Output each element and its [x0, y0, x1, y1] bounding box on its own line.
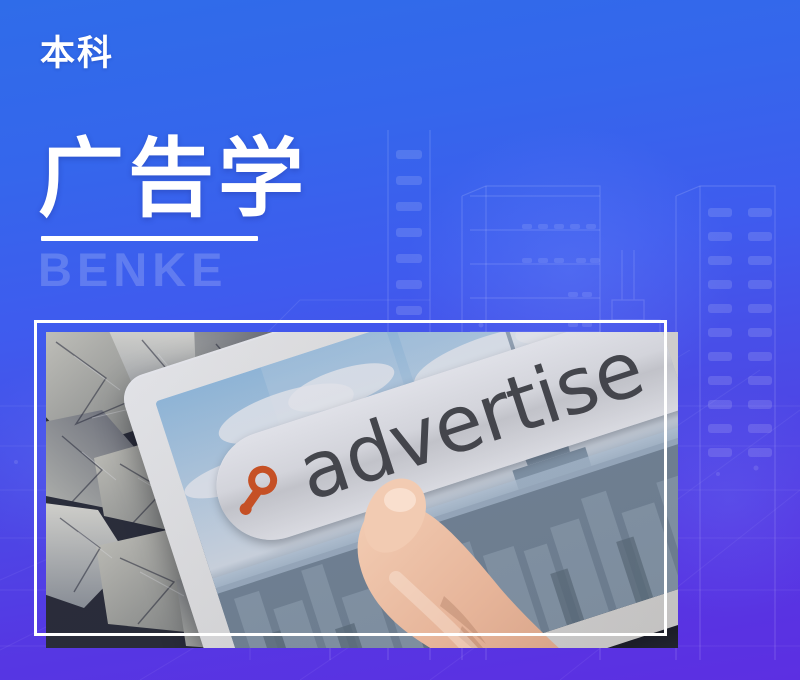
- promo-card: 本科 广告学 BENKE: [0, 0, 800, 680]
- subtitle-romanization: BENKE: [38, 246, 228, 293]
- pointing-hand: [276, 428, 576, 648]
- page-title: 广告学: [38, 136, 308, 222]
- title-underline: [41, 236, 258, 241]
- hero-photo: advertise: [46, 332, 678, 648]
- eyebrow-label: 本科: [40, 36, 114, 71]
